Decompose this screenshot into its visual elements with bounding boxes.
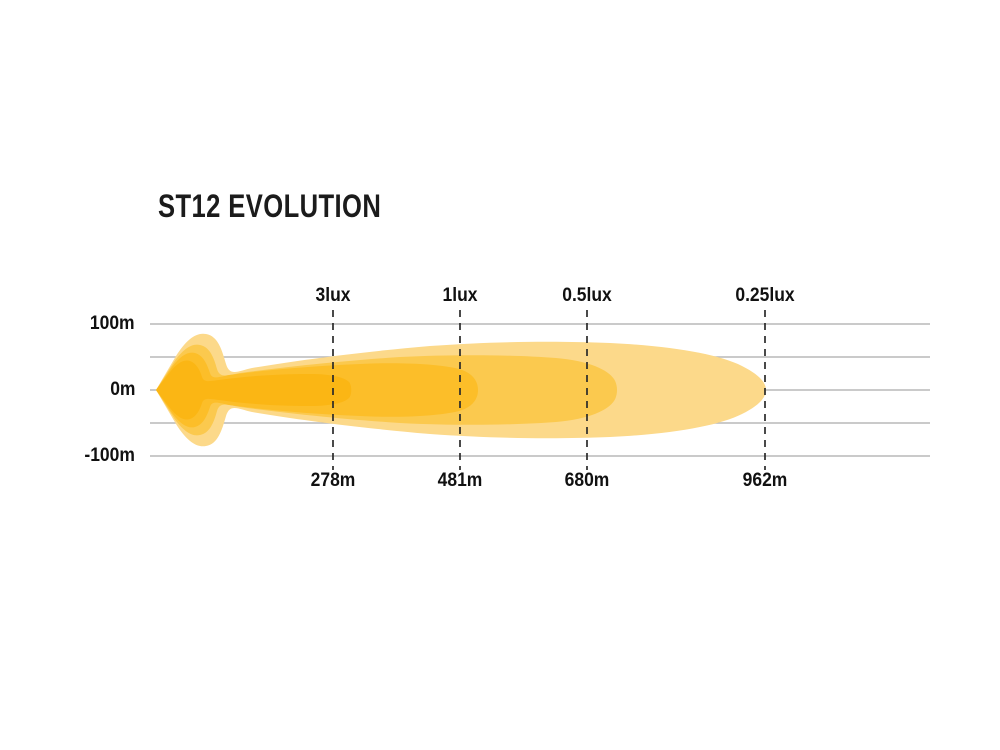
beam-plot [0, 0, 1000, 750]
y-axis-label-minus100m: -100m [84, 445, 135, 467]
distance-label-680m: 680m [541, 470, 633, 492]
lux-label-05lux: 0.5lux [541, 285, 633, 307]
lux-label-3lux: 3lux [287, 285, 379, 307]
lux-label-1lux: 1lux [414, 285, 506, 307]
beam-pattern-diagram: ST12 EVOLUTION 1 [0, 0, 1000, 750]
distance-label-481m: 481m [414, 470, 506, 492]
distance-label-278m: 278m [287, 470, 379, 492]
distance-label-962m: 962m [719, 470, 811, 492]
y-axis-label-100m: 100m [90, 313, 135, 335]
y-axis-label-0m: 0m [110, 379, 135, 401]
lux-label-025lux: 0.25lux [719, 285, 811, 307]
beam-layers [156, 334, 766, 447]
